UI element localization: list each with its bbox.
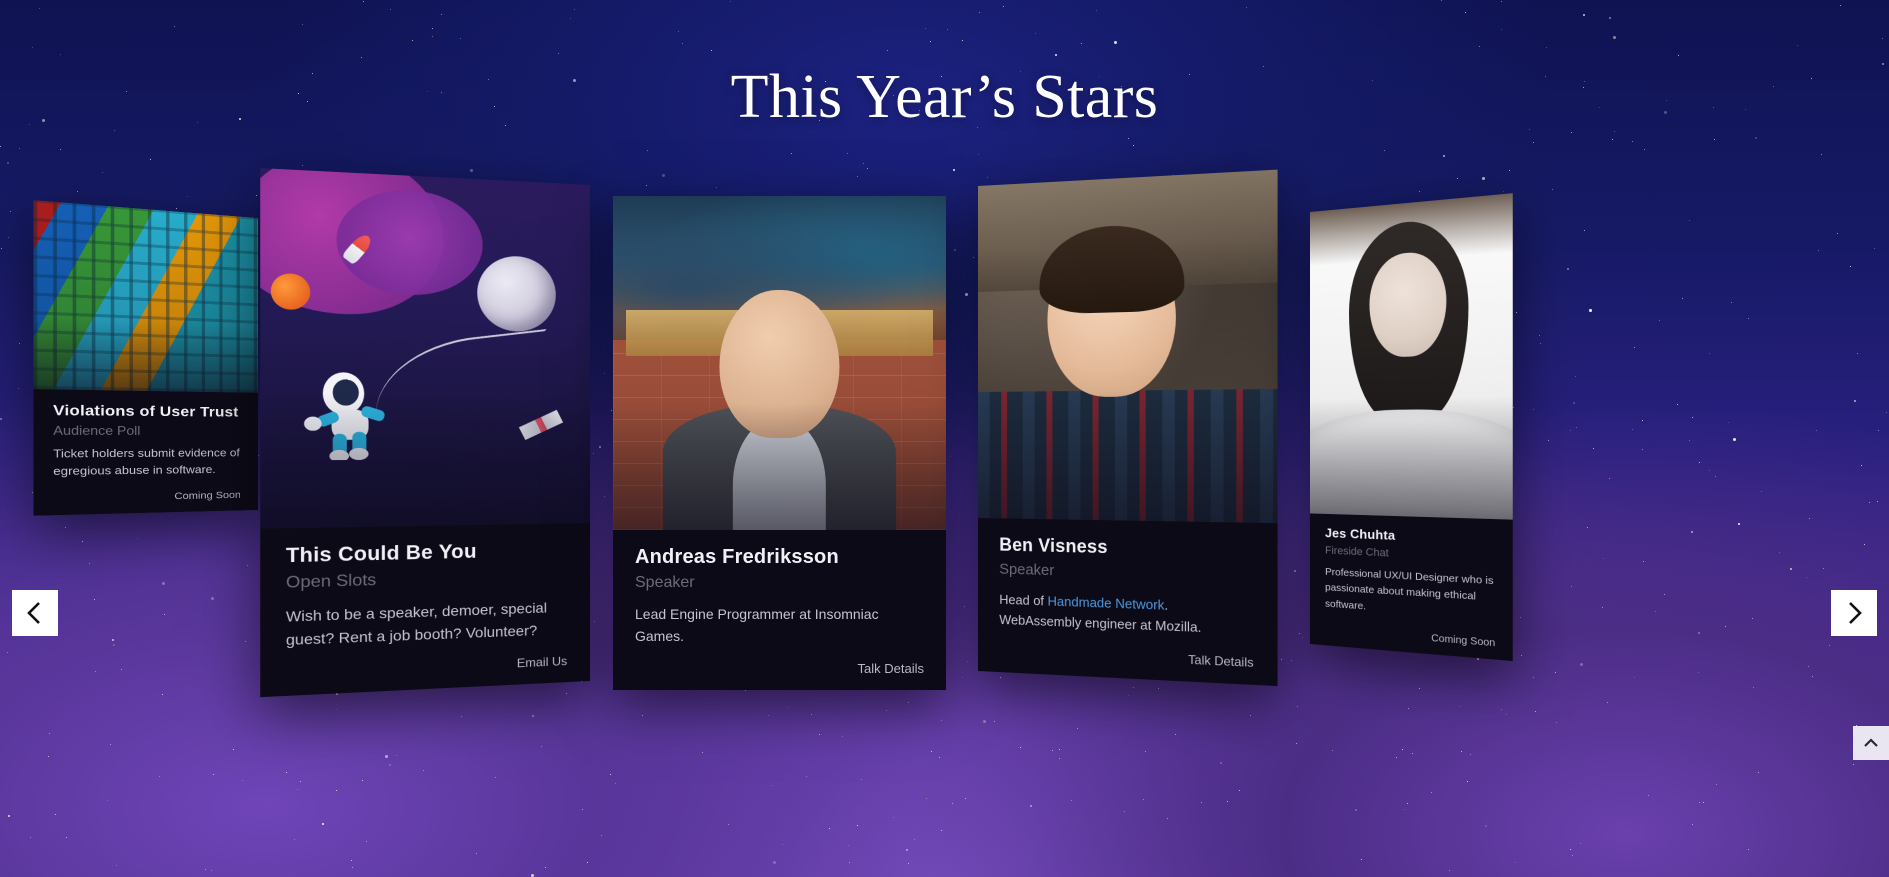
- image-wash: [34, 200, 258, 393]
- card-body: Andreas Fredriksson Speaker Lead Engine …: [613, 530, 946, 690]
- astronaut-icon: [295, 358, 404, 460]
- speaker-card[interactable]: Jes Chuhta Fireside Chat Professional UX…: [1310, 193, 1513, 661]
- card-image: [613, 196, 946, 530]
- blouse-icon: [1310, 408, 1513, 519]
- card-role: Audience Poll: [53, 423, 241, 437]
- plaid-shirt-icon: [978, 389, 1278, 523]
- card-title: Jes Chuhta: [1325, 525, 1495, 547]
- card-body: Violations of User Trust Audience Poll T…: [34, 389, 258, 516]
- card-cta-link[interactable]: Coming Soon: [53, 490, 241, 505]
- page-title: This Year’s Stars: [0, 63, 1889, 132]
- grayscale-portrait-icon: [1310, 193, 1513, 519]
- page-root: This Year’s Stars Violations of User Tru…: [0, 0, 1889, 877]
- card-role: Speaker: [999, 561, 1253, 586]
- handmade-network-link[interactable]: Handmade Network: [1048, 593, 1165, 612]
- card-image: [34, 200, 258, 393]
- head-icon: [720, 290, 840, 438]
- card-description: Wish to be a speaker, demoer, special gu…: [286, 597, 567, 652]
- speaker-card[interactable]: Violations of User Trust Audience Poll T…: [34, 200, 258, 516]
- description-prefix: Head of: [999, 592, 1047, 609]
- scroll-to-top-button[interactable]: [1853, 726, 1889, 760]
- card-cta-link[interactable]: Talk Details: [999, 644, 1253, 670]
- card-description: Lead Engine Programmer at Insomniac Game…: [635, 604, 924, 647]
- card-image: [978, 170, 1278, 524]
- card-description: Professional UX/UI Designer who is passi…: [1325, 564, 1495, 623]
- card-role: Open Slots: [286, 567, 567, 593]
- card-title: Ben Visness: [999, 534, 1253, 562]
- rock-background-icon: [978, 170, 1278, 524]
- space-illustration-icon: [260, 168, 590, 529]
- card-title: This Could Be You: [286, 539, 567, 568]
- card-body: Ben Visness Speaker Head of Handmade Net…: [978, 518, 1278, 686]
- brick-wall-icon: [613, 196, 946, 530]
- speaker-card[interactable]: Ben Visness Speaker Head of Handmade Net…: [978, 170, 1278, 687]
- card-body: Jes Chuhta Fireside Chat Professional UX…: [1310, 513, 1513, 660]
- speaker-card[interactable]: This Could Be You Open Slots Wish to be …: [260, 168, 590, 698]
- card-title: Violations of User Trust: [53, 402, 241, 420]
- moon-icon: [477, 255, 556, 332]
- card-title: Andreas Fredriksson: [635, 546, 924, 569]
- person-figure-icon: [663, 290, 896, 530]
- planet-icon: [271, 273, 310, 310]
- chevron-up-icon: [1863, 737, 1879, 749]
- card-cta-link[interactable]: Talk Details: [635, 661, 924, 676]
- speaker-card[interactable]: Andreas Fredriksson Speaker Lead Engine …: [613, 196, 946, 690]
- card-image: [260, 168, 590, 529]
- chevron-left-icon: [25, 600, 45, 626]
- card-description: Head of Handmade Network. WebAssembly en…: [999, 590, 1253, 641]
- carousel-next-button[interactable]: [1831, 590, 1877, 636]
- card-description: Ticket holders submit evidence of egregi…: [53, 446, 241, 482]
- card-body: This Could Be You Open Slots Wish to be …: [260, 523, 590, 698]
- card-role: Speaker: [635, 574, 924, 592]
- card-cta-link[interactable]: Coming Soon: [1325, 625, 1495, 649]
- card-cta-link[interactable]: Email Us: [286, 654, 567, 681]
- chevron-right-icon: [1844, 600, 1864, 626]
- card-image: [1310, 193, 1513, 519]
- card-role: Fireside Chat: [1325, 545, 1495, 565]
- carousel-prev-button[interactable]: [12, 590, 58, 636]
